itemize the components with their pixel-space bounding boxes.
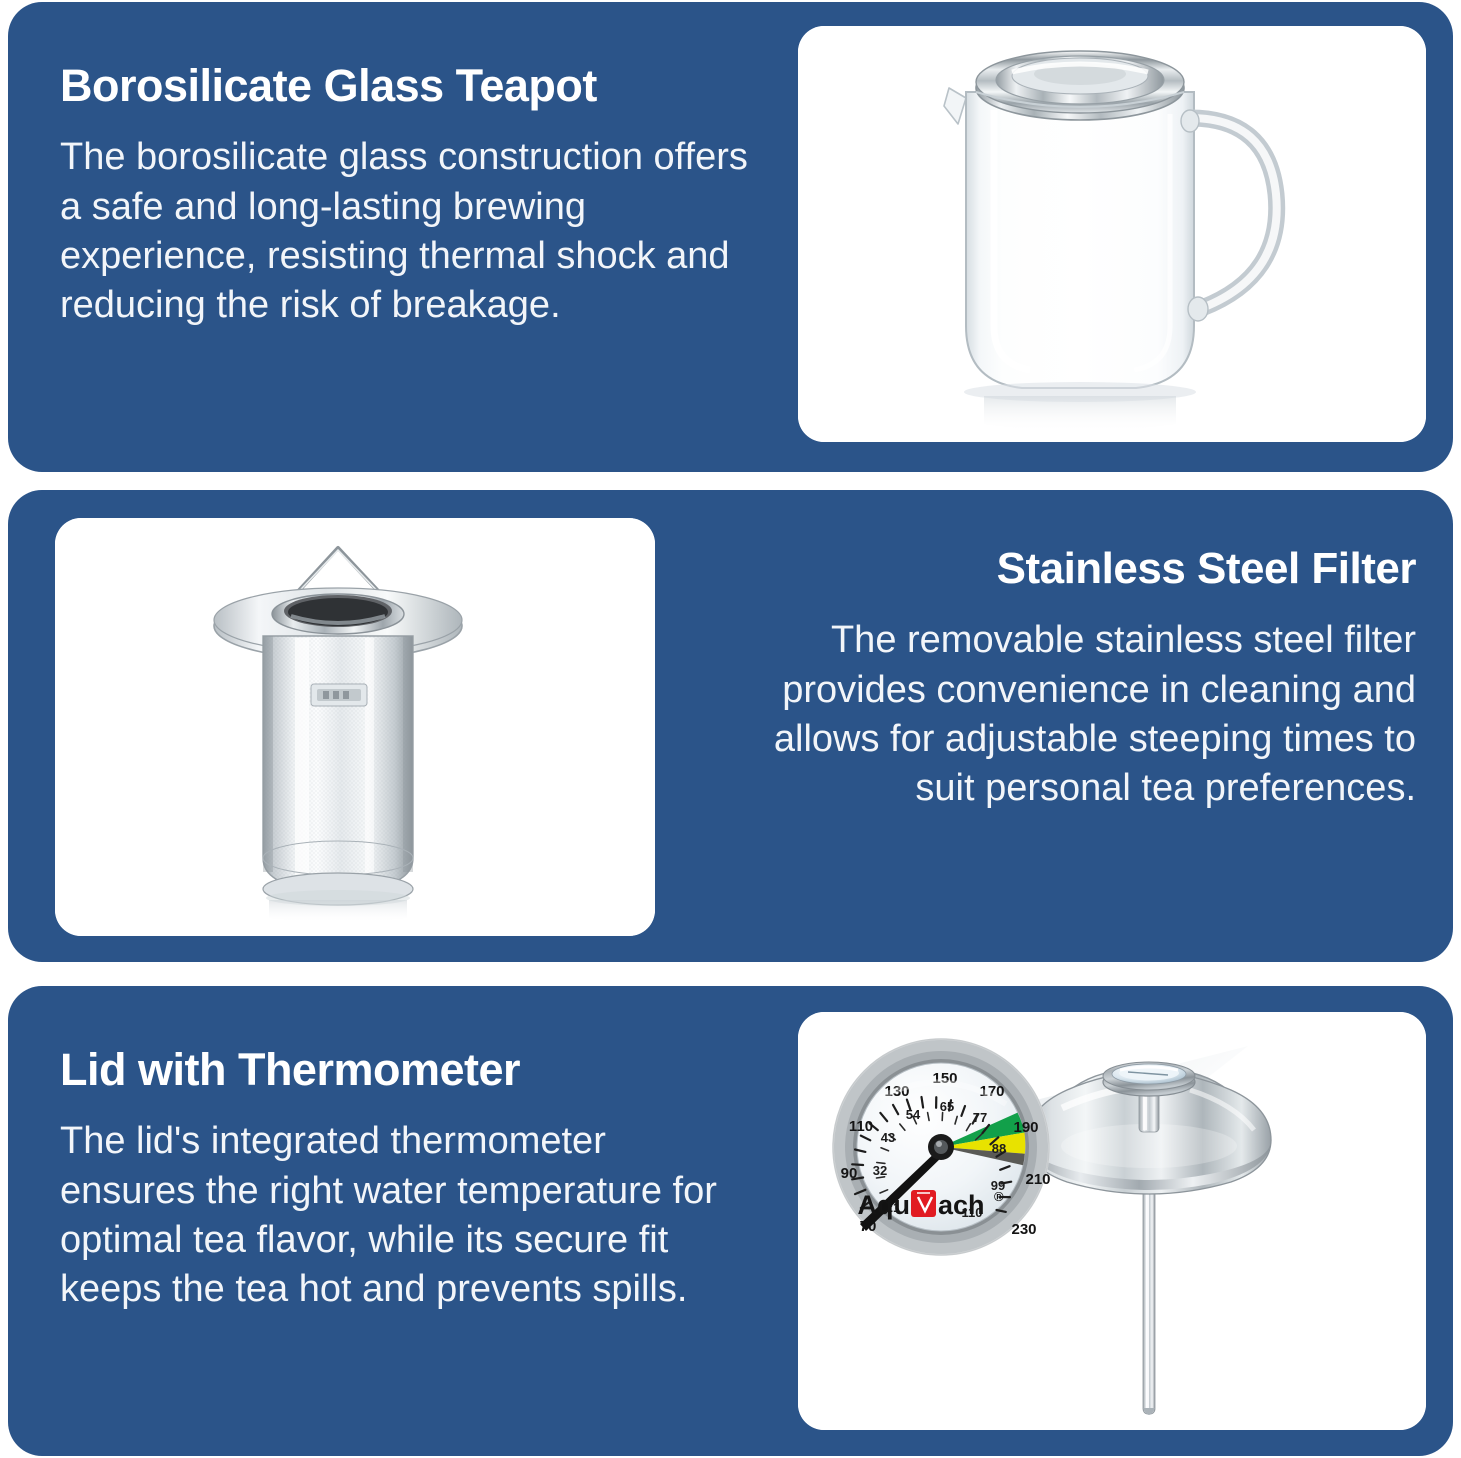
dial-label-f-110: 110 — [849, 1118, 873, 1135]
feature-text-block-1: Borosilicate Glass Teapot The borosilica… — [60, 62, 750, 331]
brand-prefix: Aqu — [858, 1190, 910, 1220]
feature-body-3: The lid's integrated thermometer ensures… — [60, 1117, 750, 1315]
image-card-teapot — [798, 26, 1426, 442]
image-card-lid: 70 90 110 130 150 170 190 210 230 21 32 — [798, 1012, 1426, 1430]
thermometer-brand-logo: Aqu ach ® — [858, 1189, 1004, 1220]
feature-text-block-2: Stainless Steel Filter The removable sta… — [756, 546, 1416, 814]
feature-body-2: The removable stainless steel filter pro… — [756, 616, 1416, 814]
feature-title-2: Stainless Steel Filter — [756, 546, 1416, 592]
dial-label-c-43: 43 — [881, 1130, 895, 1145]
feature-title-1: Borosilicate Glass Teapot — [60, 62, 750, 109]
feature-text-block-3: Lid with Thermometer The lid's integrate… — [60, 1046, 750, 1315]
thermometer-lid-photo: 70 90 110 130 150 170 190 210 230 21 32 — [798, 1012, 1426, 1430]
feature-body-1: The borosilicate glass construction offe… — [60, 133, 750, 331]
brand-registered: ® — [994, 1189, 1004, 1204]
dial-label-c-32: 32 — [873, 1163, 887, 1178]
dial-label-c-77: 77 — [973, 1110, 987, 1125]
dial-label-f-90: 90 — [841, 1165, 858, 1182]
dial-label-c-88: 88 — [992, 1141, 1006, 1156]
dial-label-c-65: 65 — [940, 1099, 954, 1114]
infographic-sheet: Borosilicate Glass Teapot The borosilica… — [0, 0, 1461, 1458]
image-card-filter — [55, 518, 655, 936]
dial-label-f-190: 190 — [1013, 1119, 1038, 1136]
stainless-steel-filter-photo — [55, 518, 655, 936]
feature-title-3: Lid with Thermometer — [60, 1046, 750, 1093]
magnified-thermometer-dial: 70 90 110 130 150 170 190 210 230 21 32 — [833, 1039, 1051, 1255]
brand-suffix: ach — [938, 1190, 985, 1220]
dial-label-f-230: 230 — [1011, 1221, 1036, 1238]
dial-label-f-210: 210 — [1025, 1171, 1050, 1188]
dial-label-c-54: 54 — [906, 1107, 921, 1122]
glass-teapot-photo — [798, 26, 1426, 442]
brand-logo-square — [911, 1190, 936, 1217]
